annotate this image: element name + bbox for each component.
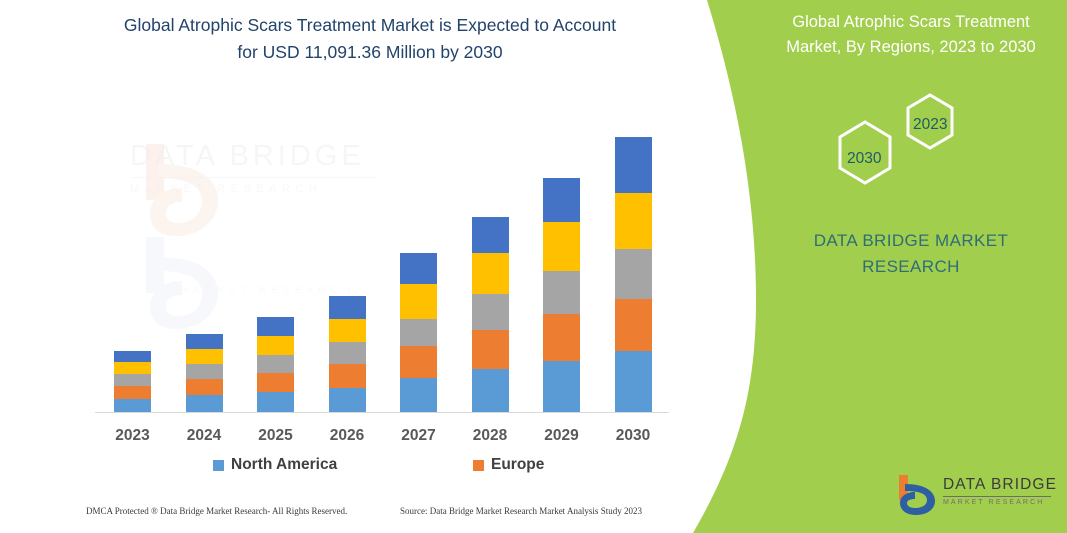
hexagon-outlines [810,92,1010,202]
x-axis-label-2023: 2023 [103,427,163,445]
chart-infographic: Global Atrophic Scars Treatment Market i… [0,0,1067,533]
footer-copyright: DMCA Protected ® Data Bridge Market Rese… [86,506,347,516]
legend-item-north-america[interactable]: North America [213,456,337,474]
bar-segment-2027-series-3 [400,319,437,346]
bar-segment-2030-series-3 [615,249,652,299]
x-axis-label-2025: 2025 [246,427,306,445]
bar-2026 [329,296,366,413]
bar-2023 [114,351,151,413]
hexagon-label-2023: 2023 [913,116,947,134]
bar-segment-2026-north-america [329,388,366,413]
data-bridge-logo: DATA BRIDGE MARKET RESEARCH [895,472,1060,520]
bar-segment-2024-series-4 [186,349,223,364]
bar-segment-2023-series-5 [114,351,151,362]
bar-2024 [186,334,223,413]
bar-segment-2029-europe [543,314,580,361]
chart-title-line-1: Global Atrophic Scars Treatment Market i… [60,12,680,39]
bar-segment-2029-series-3 [543,271,580,314]
bar-2025 [257,317,294,413]
panel-title-line-2: Market, By Regions, 2023 to 2030 [765,35,1057,60]
bar-segment-2026-series-4 [329,319,366,342]
data-bridge-logo-text: DATA BRIDGE MARKET RESEARCH [943,476,1057,506]
bar-segment-2030-series-4 [615,193,652,249]
legend-label: Europe [491,456,544,474]
bar-segment-2024-series-3 [186,364,223,379]
bar-2028 [472,217,509,413]
footer: DMCA Protected ® Data Bridge Market Rese… [0,506,690,528]
legend-label: North America [231,456,337,474]
bar-segment-2027-north-america [400,378,437,413]
bar-segment-2030-series-5 [615,137,652,193]
bar-segment-2027-europe [400,346,437,378]
chart-legend: North AmericaEurope [95,456,675,480]
x-axis-label-2029: 2029 [532,427,592,445]
bar-segment-2023-north-america [114,399,151,413]
x-axis-label-2026: 2026 [317,427,377,445]
bar-segment-2024-europe [186,379,223,395]
footer-source: Source: Data Bridge Market Research Mark… [400,506,642,516]
bar-segment-2023-europe [114,386,151,399]
panel-title: Global Atrophic Scars Treatment Market, … [765,10,1057,60]
x-axis-labels: 20232024202520262027202820292030 [95,427,675,453]
bar-segment-2029-north-america [543,361,580,413]
bar-segment-2023-series-4 [114,362,151,374]
x-axis-label-2024: 2024 [174,427,234,445]
logo-subtitle: MARKET RESEARCH [943,499,1057,506]
green-side-panel: Global Atrophic Scars Treatment Market, … [660,0,1067,533]
bar-segment-2023-series-3 [114,374,151,386]
x-axis-label-2030: 2030 [603,427,663,445]
panel-brand-line-1: DATA BRIDGE MARKET [765,228,1057,254]
x-axis-label-2027: 2027 [389,427,449,445]
bar-segment-2027-series-4 [400,284,437,319]
bar-segment-2024-north-america [186,395,223,413]
bar-segment-2028-series-3 [472,294,509,330]
panel-title-line-1: Global Atrophic Scars Treatment [765,10,1057,35]
bar-chart-plot-area [95,120,675,413]
legend-swatch-icon [473,460,484,471]
logo-rule [943,496,1051,497]
logo-title: DATA BRIDGE [943,476,1057,494]
bar-segment-2027-series-5 [400,253,437,284]
hexagon-badges: 2030 2023 [810,92,1010,202]
bar-segment-2025-north-america [257,392,294,413]
bar-segment-2026-series-3 [329,342,366,364]
bar-2027 [400,253,437,413]
bar-segment-2028-series-5 [472,217,509,253]
bar-2029 [543,178,580,413]
legend-item-europe[interactable]: Europe [473,456,544,474]
bar-segment-2024-series-5 [186,334,223,349]
bar-segment-2030-north-america [615,351,652,413]
bar-segment-2028-north-america [472,369,509,413]
bar-segment-2025-europe [257,373,294,392]
x-axis-label-2028: 2028 [460,427,520,445]
data-bridge-logo-mark [895,474,937,516]
hexagon-label-2030: 2030 [847,150,881,168]
bar-2030 [615,137,652,413]
panel-brand-line-2: RESEARCH [765,254,1057,280]
bar-segment-2025-series-5 [257,317,294,336]
bar-segment-2030-europe [615,299,652,351]
bar-segment-2026-series-5 [329,296,366,319]
chart-title-line-2: for USD 11,091.36 Million by 2030 [60,39,680,66]
bar-segment-2028-series-4 [472,253,509,294]
bar-segment-2029-series-4 [543,222,580,271]
bar-segment-2028-europe [472,330,509,369]
legend-swatch-icon [213,460,224,471]
bar-segment-2025-series-4 [257,336,294,355]
bar-segment-2029-series-5 [543,178,580,222]
chart-title: Global Atrophic Scars Treatment Market i… [60,12,680,66]
panel-brand-text: DATA BRIDGE MARKET RESEARCH [765,228,1057,280]
x-axis-line [95,412,669,413]
bar-segment-2026-europe [329,364,366,388]
bar-segment-2025-series-3 [257,355,294,373]
